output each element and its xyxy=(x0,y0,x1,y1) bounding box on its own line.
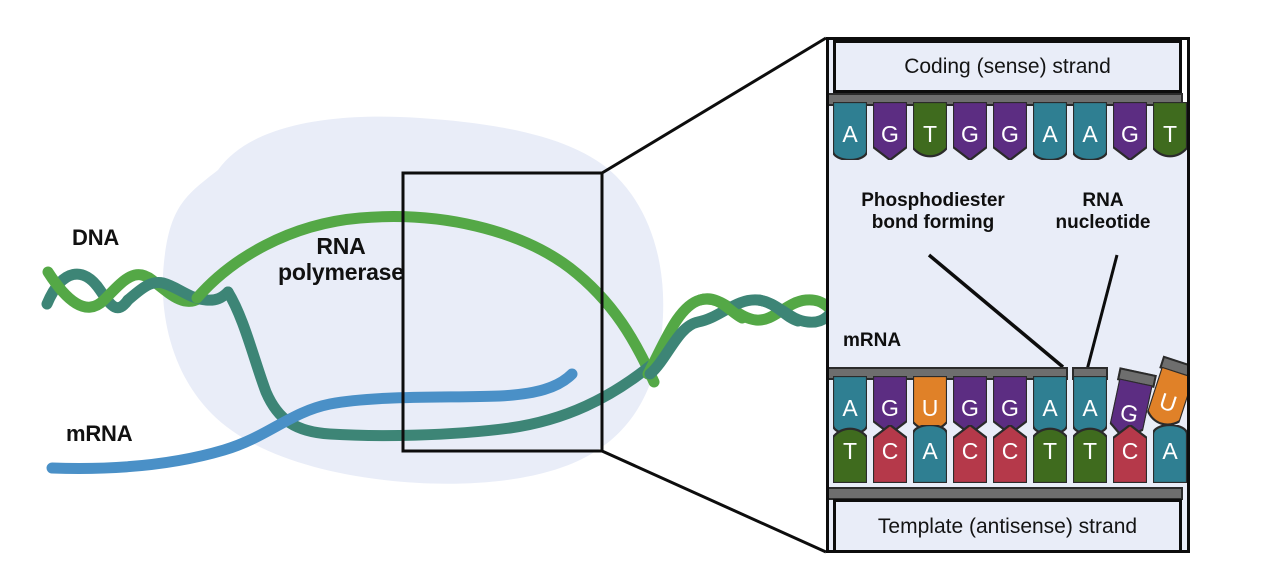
nucleotide-letter: G xyxy=(1001,123,1019,146)
nucleotide-letter: A xyxy=(1082,397,1097,420)
nucleotide-letter: U xyxy=(922,397,939,420)
magnified-inset-panel: Coding (sense) strand AGTGGAAGT Phosphod… xyxy=(826,37,1190,553)
leader-phosphodiester xyxy=(929,255,1063,367)
nucleotide-letter: G xyxy=(961,123,979,146)
nucleotide-letter: A xyxy=(1042,397,1057,420)
magnifier-leader-top xyxy=(602,38,826,173)
nucleotide-cytosine: C xyxy=(953,425,987,483)
nucleotide-letter: C xyxy=(1002,440,1019,463)
nucleotide-letter: A xyxy=(1162,440,1177,463)
nucleotide-letter: A xyxy=(1082,123,1097,146)
nucleotide-thymine: T xyxy=(1073,425,1107,483)
nucleotide-letter: G xyxy=(881,123,899,146)
nucleotide-letter: A xyxy=(1042,123,1057,146)
template-strand-base-row: TCACCTTCA xyxy=(829,425,1190,487)
left-scene: DNA mRNA RNA polymerase xyxy=(0,0,830,568)
banner-template-strand: Template (antisense) strand xyxy=(833,499,1182,553)
nucleotide-letter: A xyxy=(842,397,857,420)
nucleotide-letter: T xyxy=(1043,440,1057,463)
nucleotide-letter: C xyxy=(1122,440,1139,463)
nucleotide-letter: C xyxy=(882,440,899,463)
leader-rna-nucleotide xyxy=(1087,255,1117,370)
transcription-diagram: DNA mRNA RNA polymerase Coding (sense) s… xyxy=(0,0,1270,568)
nucleotide-letter: C xyxy=(962,440,979,463)
label-mrna-outside: mRNA xyxy=(66,422,132,447)
magnifier-leader-bottom xyxy=(602,451,826,552)
nucleotide-letter: A xyxy=(842,123,857,146)
nucleotide-thymine: T xyxy=(1033,425,1067,483)
nucleotide-adenine: A xyxy=(1153,425,1187,483)
dna-transcription-illustration xyxy=(0,0,830,568)
nucleotide-letter: T xyxy=(843,440,857,463)
nucleotide-letter: T xyxy=(923,123,937,146)
nucleotide-thymine: T xyxy=(833,425,867,483)
nucleotide-letter: T xyxy=(1083,440,1097,463)
nucleotide-letter: G xyxy=(1121,123,1139,146)
nucleotide-letter: T xyxy=(1163,123,1177,146)
nucleotide-letter: G xyxy=(1001,397,1019,420)
label-dna: DNA xyxy=(72,226,119,251)
nucleotide-cytosine: C xyxy=(993,425,1027,483)
label-rna-polymerase: RNA polymerase xyxy=(278,234,404,286)
nucleotide-adenine: A xyxy=(913,425,947,483)
nucleotide-letter: G xyxy=(881,397,899,420)
nucleotide-cytosine: C xyxy=(873,425,907,483)
nucleotide-letter: G xyxy=(961,397,979,420)
nucleotide-cytosine: C xyxy=(1113,425,1147,483)
nucleotide-letter: A xyxy=(922,440,937,463)
